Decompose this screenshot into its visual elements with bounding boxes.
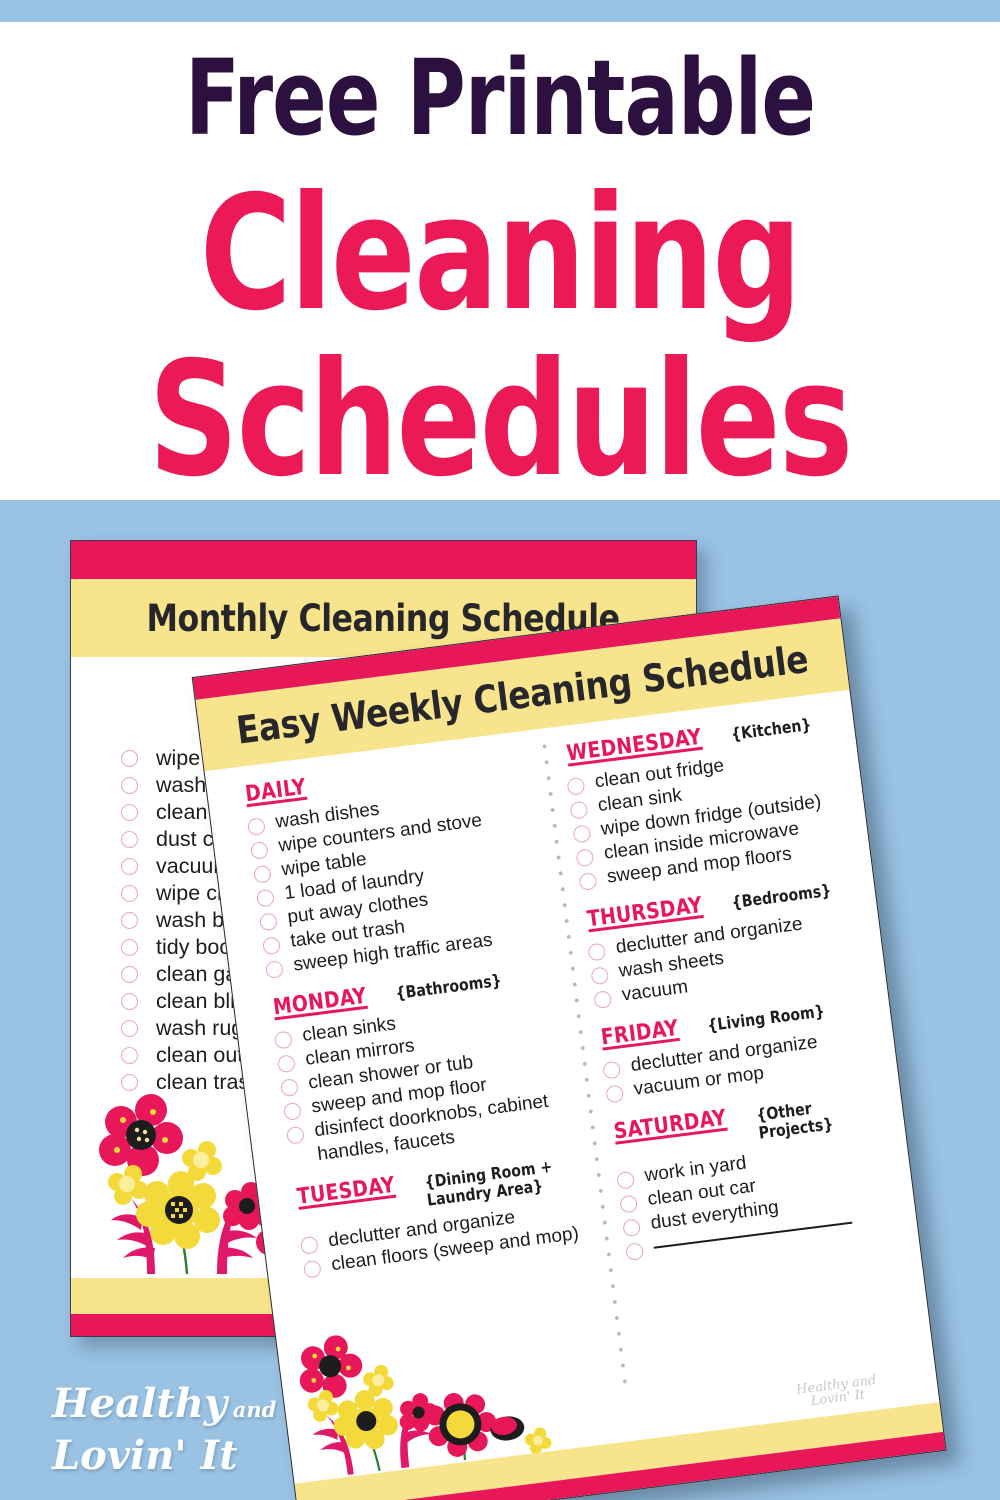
checkbox-circle-icon[interactable] xyxy=(605,1084,624,1103)
checkbox-circle-icon[interactable] xyxy=(121,858,138,875)
checkbox-circle-icon[interactable] xyxy=(619,1195,638,1214)
checkbox-circle-icon[interactable] xyxy=(121,1047,138,1064)
checkbox-circle-icon[interactable] xyxy=(280,1078,299,1097)
checkbox-circle-icon[interactable] xyxy=(253,865,272,884)
checkbox-circle-icon[interactable] xyxy=(572,824,591,843)
checkbox-circle-icon[interactable] xyxy=(303,1260,322,1279)
checkbox-circle-icon[interactable] xyxy=(121,885,138,902)
checkbox-circle-icon[interactable] xyxy=(274,1030,293,1049)
checkbox-circle-icon[interactable] xyxy=(587,943,606,962)
weekly-day-room-label: {Bedrooms} xyxy=(731,882,832,912)
checkbox-circle-icon[interactable] xyxy=(590,966,609,985)
header-title-line-1: Free Printable xyxy=(70,22,930,152)
checkbox-circle-icon[interactable] xyxy=(259,912,278,931)
checkbox-circle-icon[interactable] xyxy=(593,990,612,1009)
checkbox-circle-icon[interactable] xyxy=(247,817,266,836)
printables-preview-area: Monthly Cleaning Schedule wipe baseboard… xyxy=(0,500,1000,1500)
weekly-schedule-card-wrapper: Easy Weekly Cleaning Schedule DAILYwash … xyxy=(192,596,945,1500)
weekly-day-name: DAILY xyxy=(244,775,308,807)
weekly-schedule-card[interactable]: Easy Weekly Cleaning Schedule DAILYwash … xyxy=(192,595,947,1500)
checkbox-circle-icon[interactable] xyxy=(121,804,138,821)
checkbox-circle-icon[interactable] xyxy=(256,889,275,908)
checkbox-circle-icon[interactable] xyxy=(578,872,597,891)
checkbox-circle-icon[interactable] xyxy=(121,993,138,1010)
checkbox-circle-icon[interactable] xyxy=(121,750,138,767)
header-banner: Free Printable Cleaning Schedules xyxy=(0,22,1000,500)
brand-watermark: Healthy and Lovin' It xyxy=(52,1382,276,1478)
header-title-line-3: Schedules xyxy=(60,334,940,500)
checkbox-circle-icon[interactable] xyxy=(121,1020,138,1037)
weekly-day-name: FRIDAY xyxy=(600,1016,680,1051)
brand-watermark-line-2: Lovin' It xyxy=(52,1434,276,1478)
header-title-line-2: Cleaning xyxy=(60,152,940,334)
checkbox-circle-icon[interactable] xyxy=(121,777,138,794)
weekly-day-name: MONDAY xyxy=(272,984,368,1021)
checkbox-circle-icon[interactable] xyxy=(602,1061,621,1080)
checkbox-circle-icon[interactable] xyxy=(265,960,284,979)
checkbox-circle-icon[interactable] xyxy=(250,841,269,860)
brand-watermark-and: and xyxy=(233,1397,277,1422)
checkbox-circle-icon[interactable] xyxy=(566,777,585,796)
checkbox-circle-icon[interactable] xyxy=(569,801,588,820)
checkbox-circle-icon[interactable] xyxy=(283,1102,302,1121)
checkbox-circle-icon[interactable] xyxy=(616,1171,635,1190)
top-blue-strip xyxy=(0,0,1000,22)
checkbox-circle-icon[interactable] xyxy=(300,1236,319,1255)
checkbox-circle-icon[interactable] xyxy=(622,1218,641,1237)
checkbox-circle-icon[interactable] xyxy=(121,939,138,956)
weekly-day-checklist: clean sinksclean mirrorsclean shower or … xyxy=(273,992,577,1171)
weekly-day-checklist: wash disheswipe counters and stovewipe t… xyxy=(246,778,553,981)
weekly-day-checklist: clean out fridgeclean sinkwipe down frid… xyxy=(566,739,861,893)
weekly-day-room-label: {Kitchen} xyxy=(730,716,812,744)
checkbox-circle-icon[interactable] xyxy=(121,831,138,848)
checkbox-circle-icon[interactable] xyxy=(286,1126,305,1145)
weekly-day-room-label: {Living Room} xyxy=(706,1003,825,1036)
checkbox-circle-icon[interactable] xyxy=(262,936,281,955)
checkbox-circle-icon[interactable] xyxy=(121,966,138,983)
weekly-day-name: SATURDAY xyxy=(612,1106,727,1145)
monthly-card-pink-header-band xyxy=(71,541,696,579)
brand-watermark-line-1: Healthy xyxy=(52,1380,227,1427)
checkbox-circle-icon[interactable] xyxy=(625,1242,644,1261)
checkbox-circle-icon[interactable] xyxy=(575,848,594,867)
weekly-day-name: TUESDAY xyxy=(296,1173,397,1210)
weekly-day-room-label: {Bathrooms} xyxy=(395,972,503,1003)
checkbox-circle-icon[interactable] xyxy=(121,912,138,929)
checkbox-circle-icon[interactable] xyxy=(277,1054,296,1073)
